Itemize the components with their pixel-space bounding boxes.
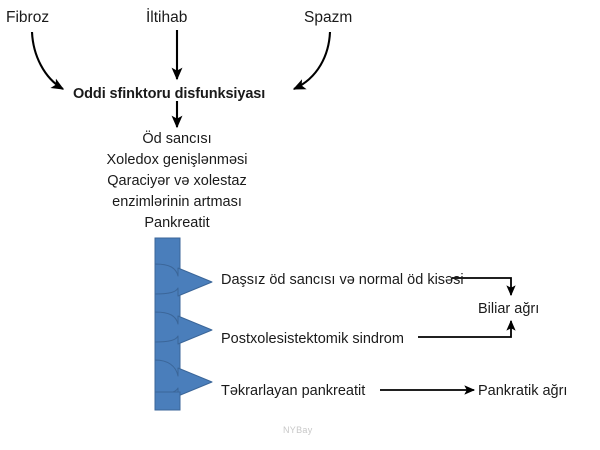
blue-branch-arrow-3 [155, 360, 212, 396]
blue-branch-arrow-1 [155, 264, 212, 296]
outcome-label-pankratik-agri: Pankratik ağrı [478, 383, 567, 399]
branch-label-tekrarlayan-pankreatit: Təkrarlayan pankreatit [221, 383, 365, 399]
cause-label-iltihab: İltihab [146, 10, 187, 26]
branch-label-dassiz-od-sancisi: Daşsız öd sancısı və normal öd kisəsi [221, 272, 464, 288]
cause-label-spazm: Spazm [304, 10, 352, 26]
watermark: NYBay [283, 425, 313, 435]
outcome-label-biliar-agri: Biliar ağrı [478, 301, 539, 317]
blue-branch-arrow-2 [155, 312, 212, 344]
cause-label-fibroz: Fibroz [6, 10, 49, 26]
blue-trunk-tail [155, 392, 180, 410]
manifestation-item-2: Qaraciyər və xolestaz [47, 171, 307, 192]
diagram-title: Oddi sfinktoru disfunksiyası [73, 87, 265, 102]
manifestation-item-0: Öd sancısı [47, 129, 307, 150]
manifestation-item-1: Xoledox genişlənməsi [47, 150, 307, 171]
manifestation-item-3: enzimlərinin artması [47, 192, 307, 213]
manifestation-list: Öd sancısı Xoledox genişlənməsi Qaraciyə… [47, 129, 307, 234]
branch-label-postxolesistektomik-sindrom: Postxolesistektomik sindrom [221, 331, 404, 347]
manifestation-item-4: Pankreatit [47, 213, 307, 234]
diagram-canvas: Fibroz İltihab Spazm Oddi sfinktoru disf… [0, 0, 600, 450]
